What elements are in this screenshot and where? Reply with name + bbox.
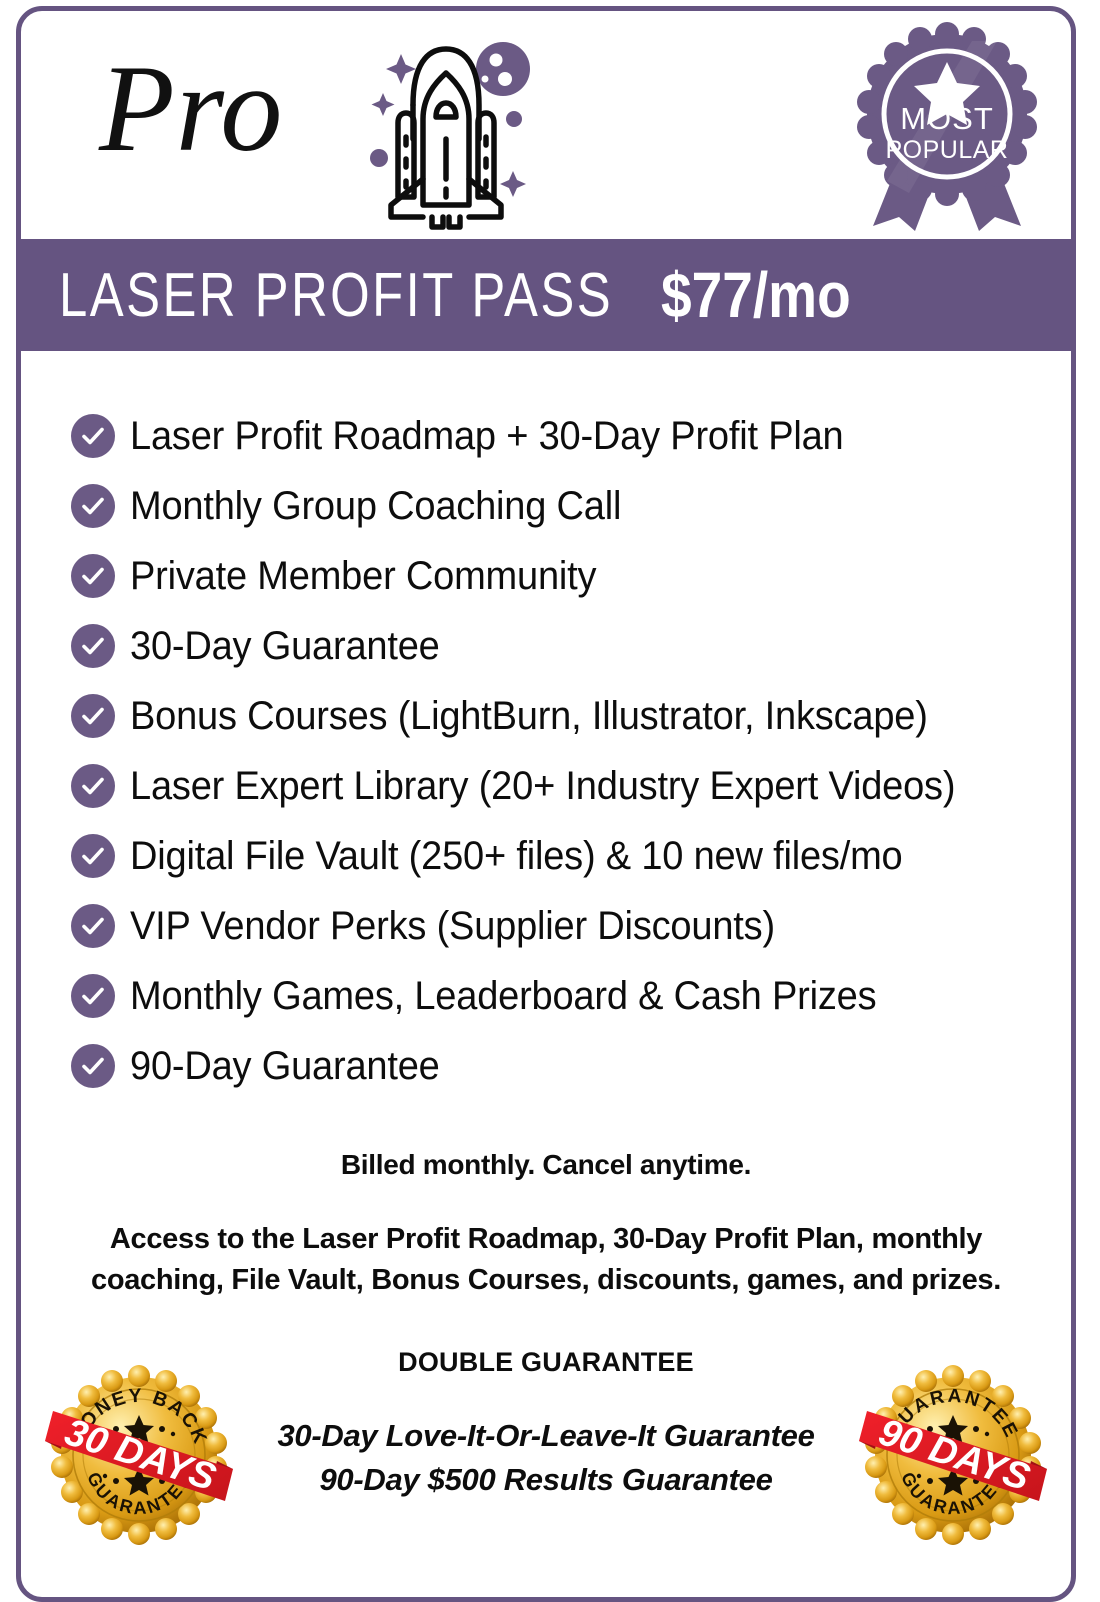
title-band: LASER PROFIT PASS $77/mo — [21, 239, 1071, 351]
check-icon — [71, 554, 115, 598]
feature-item: VIP Vendor Perks (Supplier Discounts) — [71, 903, 1071, 949]
feature-label: Laser Expert Library (20+ Industry Exper… — [130, 764, 955, 809]
pricing-card: Pro — [16, 6, 1076, 1602]
feature-item: Monthly Group Coaching Call — [71, 483, 1071, 529]
feature-item: Laser Expert Library (20+ Industry Exper… — [71, 763, 1071, 809]
feature-label: Digital File Vault (250+ files) & 10 new… — [130, 834, 902, 879]
feature-label: VIP Vendor Perks (Supplier Discounts) — [130, 904, 775, 949]
plan-name: Pro — [99, 47, 283, 171]
feature-label: 90-Day Guarantee — [130, 1044, 440, 1089]
check-icon — [71, 904, 115, 948]
money-back-seal-icon: MONEY BACK GUARANTEE — [39, 1355, 239, 1555]
check-icon — [71, 624, 115, 668]
feature-item: Monthly Games, Leaderboard & Cash Prizes — [71, 973, 1071, 1019]
check-icon — [71, 484, 115, 528]
feature-item: Private Member Community — [71, 553, 1071, 599]
billing-note: Billed monthly. Cancel anytime. — [21, 1149, 1071, 1181]
rocket-icon — [351, 27, 541, 232]
feature-label: 30-Day Guarantee — [130, 624, 440, 669]
check-icon — [71, 694, 115, 738]
feature-label: Bonus Courses (LightBurn, Illustrator, I… — [130, 694, 928, 739]
card-header: Pro — [21, 11, 1071, 239]
feature-label: Monthly Games, Leaderboard & Cash Prizes — [130, 974, 876, 1019]
check-icon — [71, 414, 115, 458]
plan-price: $77/mo — [661, 258, 851, 332]
badge-line-2: POPULAR — [886, 136, 1009, 164]
check-icon — [71, 1044, 115, 1088]
check-icon — [71, 764, 115, 808]
check-icon — [71, 834, 115, 878]
feature-item: Bonus Courses (LightBurn, Illustrator, I… — [71, 693, 1071, 739]
feature-item: 30-Day Guarantee — [71, 623, 1071, 669]
results-guarantee-seal-icon: GUARANTEE GUARANTEE — [853, 1355, 1053, 1555]
guarantee-section: MONEY BACK GUARANTEE — [21, 1347, 1071, 1567]
feature-label: Private Member Community — [130, 554, 596, 599]
plan-title: LASER PROFIT PASS — [59, 260, 613, 331]
check-icon — [71, 974, 115, 1018]
feature-label: Monthly Group Coaching Call — [130, 484, 621, 529]
feature-list: Laser Profit Roadmap + 30-Day Profit Pla… — [21, 351, 1071, 1089]
feature-label: Laser Profit Roadmap + 30-Day Profit Pla… — [130, 414, 844, 459]
access-description: Access to the Laser Profit Roadmap, 30-D… — [66, 1219, 1026, 1301]
badge-line-1: MOST — [900, 101, 994, 136]
feature-item: Laser Profit Roadmap + 30-Day Profit Pla… — [71, 413, 1071, 459]
most-popular-badge: MOST POPULAR — [847, 21, 1047, 231]
feature-item: 90-Day Guarantee — [71, 1043, 1071, 1089]
feature-item: Digital File Vault (250+ files) & 10 new… — [71, 833, 1071, 879]
